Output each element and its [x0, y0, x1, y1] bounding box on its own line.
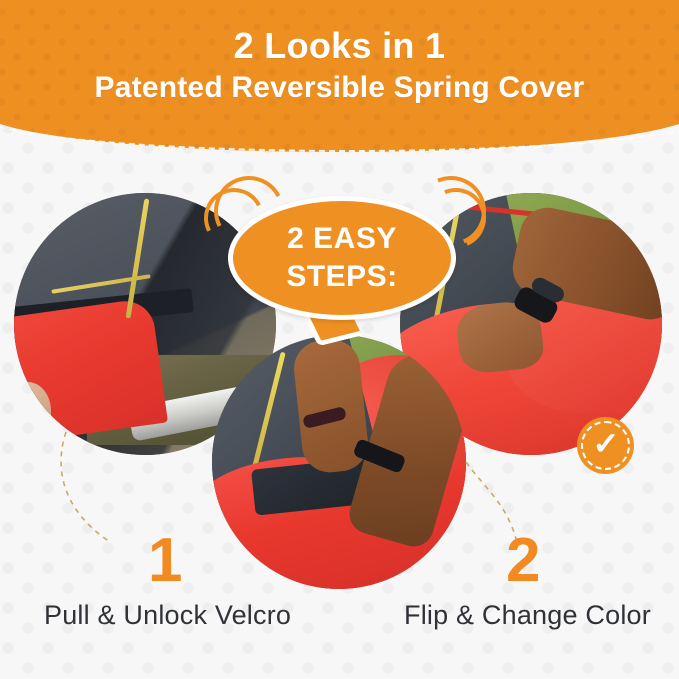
callout-bubble-wrapper: 2 EASY STEPS:: [228, 196, 456, 346]
step-number-1: 1: [148, 530, 182, 592]
step-number-2: 2: [506, 530, 540, 592]
check-icon: ✓: [592, 428, 619, 459]
step-caption-1: Pull & Unlock Velcro: [44, 600, 291, 631]
page-subtitle: Patented Reversible Spring Cover: [0, 72, 679, 104]
page-title: 2 Looks in 1: [0, 27, 679, 65]
callout-bubble-text: 2 EASY STEPS:: [228, 196, 456, 320]
callout-line-1: 2 EASY: [287, 224, 397, 254]
callout-line-2: STEPS:: [286, 262, 397, 292]
header-text-block: 2 Looks in 1 Patented Reversible Spring …: [0, 0, 679, 103]
step-caption-2: Flip & Change Color: [404, 600, 651, 631]
check-badge: ✓: [577, 417, 634, 474]
photo-step-2: [212, 335, 466, 589]
